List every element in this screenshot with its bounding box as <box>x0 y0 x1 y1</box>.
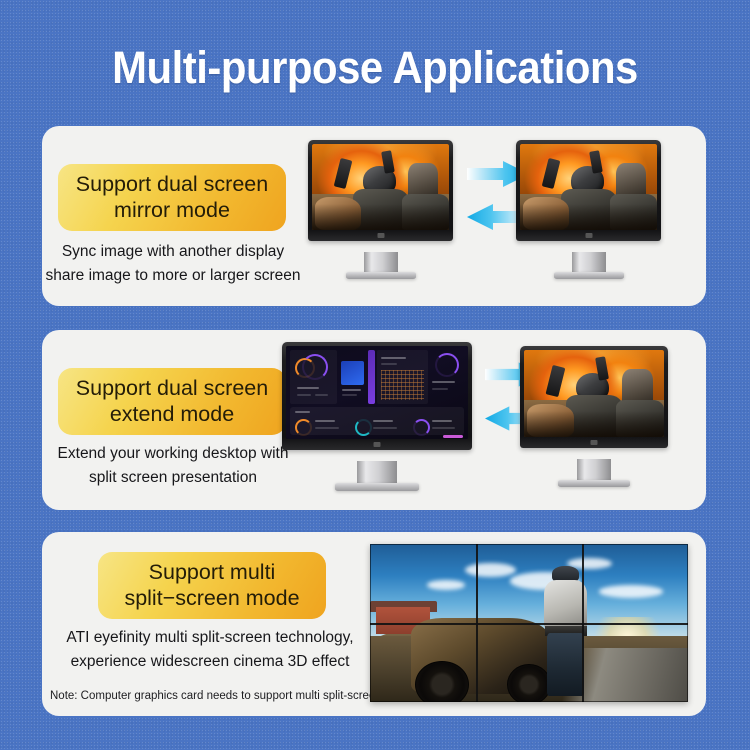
feature-description-mirror-mode: Sync image with another display share im… <box>42 240 304 288</box>
feature-card-extend-mode: Support dual screen extend mode Extend y… <box>42 330 706 510</box>
monitor-logo <box>377 233 384 238</box>
motorcycle-rider-landscape-scene <box>370 544 688 702</box>
page-title: Multi-purpose Applications <box>26 42 724 94</box>
monitor-logo <box>585 233 592 238</box>
feature-badge-multi-split-screen: Support multi split−screen mode <box>98 552 326 619</box>
monitor-logo <box>591 440 598 445</box>
feature-card-multi-split-screen: Support multi split−screen mode ATI eyef… <box>42 532 706 716</box>
monitor-screen-right-mirror <box>520 144 657 230</box>
feature-card-mirror-mode: Support dual screen mirror mode Sync ima… <box>42 126 706 306</box>
feature-description-extend-mode: Extend your working desktop with split s… <box>42 442 306 490</box>
battle-game-scene <box>312 144 449 230</box>
monitor-screen-right-extend <box>524 350 664 437</box>
feature-description-multi-split-screen: ATI eyefinity multi split-screen technol… <box>50 626 370 674</box>
product-feature-page: Multi-purpose Applications Support dual … <box>0 0 750 750</box>
monitor-screen-dashboard <box>286 346 468 439</box>
monitor-left-mirror <box>308 140 453 241</box>
video-wall <box>370 544 688 702</box>
feature-badge-extend-mode: Support dual screen extend mode <box>58 368 286 435</box>
monitor-logo <box>374 442 381 447</box>
monitor-screen-left-mirror <box>312 144 449 230</box>
feature-badge-mirror-mode: Support dual screen mirror mode <box>58 164 286 231</box>
monitor-right-mirror <box>516 140 661 241</box>
battle-game-scene <box>520 144 657 230</box>
battle-game-scene <box>524 350 664 437</box>
feature-note: Note: Computer graphics card needs to su… <box>50 690 382 702</box>
video-wall-gridline <box>370 623 688 625</box>
monitor-left-extend <box>282 342 472 450</box>
monitor-right-extend <box>520 346 668 448</box>
analytics-dashboard-scene <box>286 346 468 439</box>
